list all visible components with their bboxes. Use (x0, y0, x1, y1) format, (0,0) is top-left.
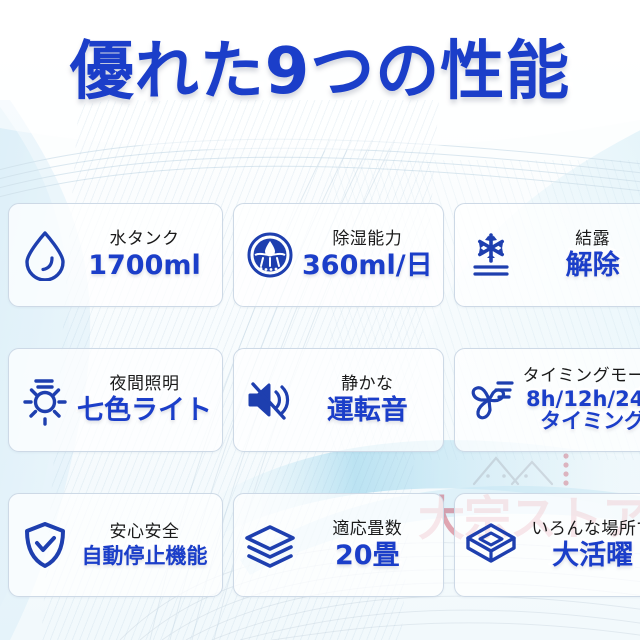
feature-value-secondary: タイミング (540, 410, 640, 433)
feature-card-auto-stop[interactable]: 安心安全 自動停止機能 (8, 493, 223, 597)
feature-value: 自動停止機能 (82, 545, 208, 568)
page-title: 優れた9つの性能 (70, 40, 571, 104)
feature-caption: 安心安全 (110, 523, 180, 542)
feature-caption: 結露 (575, 230, 610, 249)
feature-value: 20畳 (335, 541, 400, 570)
feature-caption: 水タンク (110, 230, 180, 249)
feature-card-quiet-operation[interactable]: 静かな 運転音 (233, 348, 444, 452)
water-drop-icon (15, 225, 75, 285)
feature-caption: 夜間照明 (110, 375, 180, 394)
feature-value: 360ml/日 (302, 251, 433, 280)
feature-value: 8h/12h/24h (526, 388, 640, 411)
feature-caption: 除湿能力 (332, 230, 402, 249)
shield-check-icon (15, 515, 75, 575)
page-title-container: 優れた9つの性能 (0, 24, 640, 120)
feature-card-night-light[interactable]: 夜間照明 七色ライト (8, 348, 223, 452)
feature-value: 運転音 (327, 396, 408, 425)
infographic-page: 大宗ストア 優れた9つの性能 水タンク 1700ml (0, 0, 640, 640)
feature-card-dehumidify-capacity[interactable]: 除湿能力 360ml/日 (233, 203, 444, 307)
feature-value: 大活曜 (552, 541, 633, 570)
feature-card-timer-mode[interactable]: タイミングモード 8h/12h/24h タイミング (454, 348, 640, 452)
feature-text: 適応畳数 20畳 (302, 520, 435, 571)
feature-card-versatile-placement[interactable]: いろんな場所で 大活曜 (454, 493, 640, 597)
cube-box-icon (461, 515, 521, 575)
fan-timer-icon (461, 370, 521, 430)
feature-text: 水タンク 1700ml (77, 230, 214, 281)
feature-card-grid: 水タンク 1700ml (8, 203, 632, 597)
feature-text: 結露 解除 (523, 230, 640, 281)
feature-text: 除湿能力 360ml/日 (302, 230, 435, 281)
feature-caption: いろんな場所で (531, 520, 640, 539)
feature-card-water-tank[interactable]: 水タンク 1700ml (8, 203, 223, 307)
feature-value: 解除 (566, 251, 620, 280)
feature-text: いろんな場所で 大活曜 (523, 520, 640, 571)
feature-caption: 適応畳数 (332, 520, 402, 539)
night-light-sun-icon (15, 370, 75, 430)
speaker-mute-icon (240, 370, 300, 430)
feature-caption: 静かな (341, 375, 394, 394)
feature-card-defrost[interactable]: 結露 解除 (454, 203, 640, 307)
feature-card-room-size[interactable]: 適応畳数 20畳 (233, 493, 444, 597)
snowflake-defrost-icon (461, 225, 521, 285)
feature-value: 1700ml (88, 251, 201, 280)
feature-value: 七色ライト (77, 396, 212, 425)
feature-text: タイミングモード 8h/12h/24h タイミング (523, 367, 640, 432)
feature-value-stack: 8h/12h/24h タイミング (526, 389, 640, 432)
layers-stack-icon (240, 515, 300, 575)
feature-text: 夜間照明 七色ライト (77, 375, 214, 426)
feature-caption: タイミングモード (523, 367, 640, 386)
dehumidify-circle-icon (240, 225, 300, 285)
feature-text: 静かな 運転音 (302, 375, 435, 426)
feature-text: 安心安全 自動停止機能 (77, 523, 214, 567)
